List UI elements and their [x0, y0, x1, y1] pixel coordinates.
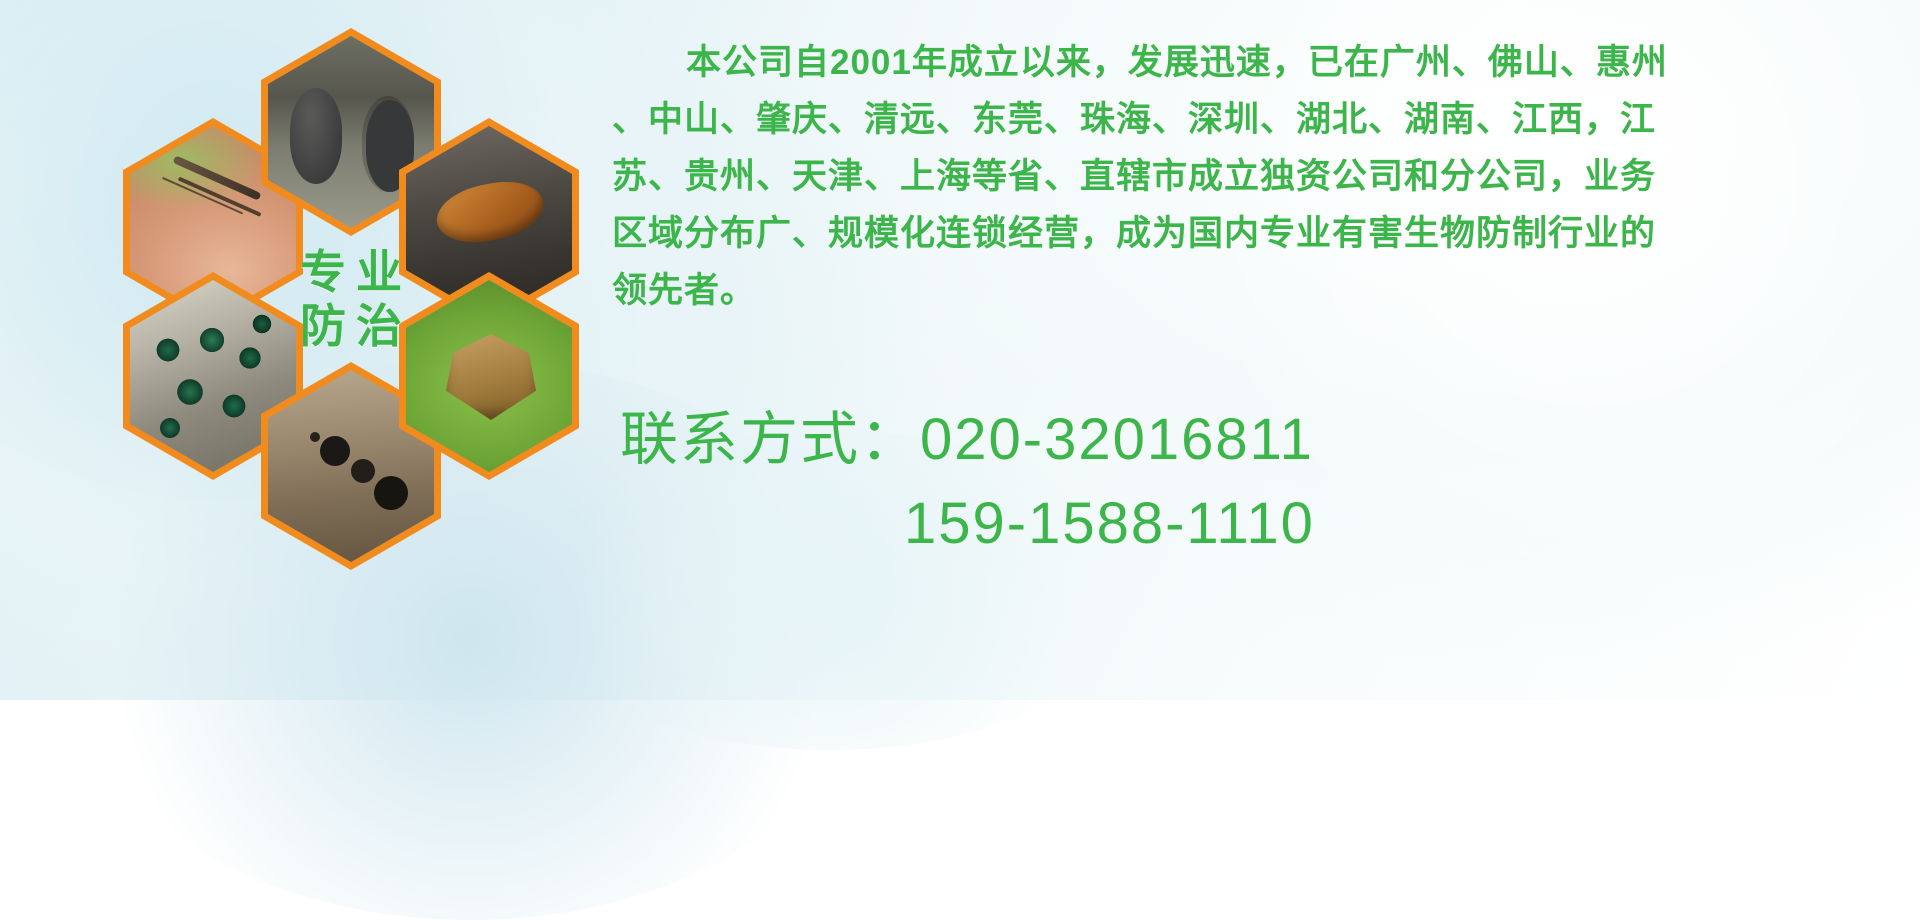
contact-label: 联系方式： [620, 407, 920, 472]
description-line-2: 、中山、肇庆、清远、东莞、珠海、深圳、湖北、湖南、江西，江 [612, 91, 1882, 148]
description-line-1: 本公司自2001年成立以来，发展迅速，已在广州、佛山、惠州 [612, 34, 1882, 91]
hex-center-badge: 专业 防治 [261, 195, 441, 403]
contact-primary-line: 联系方式：020-32016811 [612, 398, 1902, 482]
description-line-5: 领先者。 [612, 262, 1882, 319]
contact-secondary-line: 159-1588-1110 [612, 482, 1902, 566]
phone-secondary[interactable]: 159-1588-1110 [904, 491, 1315, 556]
phone-primary[interactable]: 020-32016811 [920, 407, 1314, 472]
hex-badge-line-1: 专业 [290, 245, 412, 299]
description-line-4: 区域分布广、规模化连锁经营，成为国内专业有害生物防制行业的 [612, 205, 1882, 262]
pest-control-banner: 专业 防治 本公司自2001年成立以来，发展迅速，已在广州、佛山、惠州 、中山、… [0, 0, 1920, 700]
hexagon-photo-cluster: 专业 防治 [95, 10, 575, 570]
hex-badge-line-2: 防治 [290, 299, 412, 353]
contact-block: 联系方式：020-32016811 159-1588-1110 [612, 398, 1902, 566]
description-line-3: 苏、贵州、天津、上海等省、直辖市成立独资公司和分公司，业务 [612, 148, 1882, 205]
company-description: 本公司自2001年成立以来，发展迅速，已在广州、佛山、惠州 、中山、肇庆、清远、… [612, 34, 1882, 319]
